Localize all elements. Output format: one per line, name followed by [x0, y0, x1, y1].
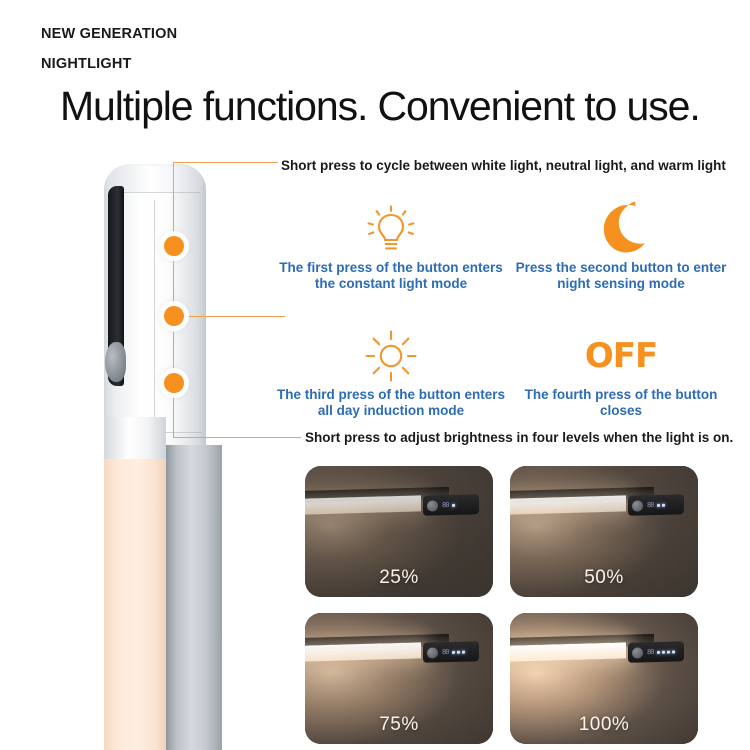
mode-block-off: OFF The fourth press of the button close… — [502, 325, 740, 419]
leader-line-top-vertical — [173, 162, 174, 240]
led-indicators-100 — [657, 650, 675, 654]
control-module-50: 80 — [628, 494, 684, 516]
sun-icon — [272, 325, 510, 387]
caption-cycle-light: Short press to cycle between white light… — [281, 158, 726, 173]
caption-brightness: Short press to adjust brightness in four… — [305, 430, 733, 445]
light-bar-25 — [305, 495, 421, 514]
control-module-75: 80 — [423, 641, 479, 663]
led-indicators-50 — [657, 503, 665, 506]
off-label: OFF — [585, 336, 657, 376]
control-module-25: 80 — [423, 494, 479, 516]
mode-block-all-day-induction: The third press of the button enters all… — [272, 325, 510, 419]
segment-display-75: 80 — [442, 648, 448, 656]
lamp-motion-sensor — [105, 342, 126, 382]
lamp-vertical-seam — [154, 200, 155, 438]
lightbulb-icon — [272, 198, 510, 260]
segment-display-50: 80 — [647, 501, 653, 509]
brightness-label-75: 75% — [305, 714, 493, 736]
mode-label-off: The fourth press of the button closes — [502, 387, 740, 419]
button-callout-middle[interactable] — [164, 306, 184, 326]
segment-display-25: 80 — [442, 501, 448, 509]
leader-line-bottom-horizontal — [173, 437, 301, 438]
light-bar-75 — [305, 642, 421, 661]
lamp-glow-panel — [104, 455, 166, 750]
light-bar-50 — [510, 495, 626, 514]
brightness-photo-50: 80 50% — [510, 466, 698, 597]
crescent-moon-icon — [502, 198, 740, 260]
sensor-knob-icon — [632, 647, 643, 658]
mode-label-all-day-induction: The third press of the button enters all… — [272, 387, 510, 419]
brightness-photo-100: 80 100% — [510, 613, 698, 744]
leader-line-middle-horizontal — [178, 316, 285, 317]
sensor-knob-icon — [427, 500, 438, 511]
brightness-label-25: 25% — [305, 567, 493, 589]
product-feature-page: NEW GENERATION NIGHTLIGHT Multiple funct… — [0, 0, 750, 750]
leader-line-top-horizontal — [173, 162, 278, 163]
led-indicators-25 — [452, 503, 455, 506]
light-bar-100 — [510, 642, 626, 661]
brand-eyebrow-line-2: NIGHTLIGHT — [41, 56, 132, 72]
brightness-label-50: 50% — [510, 567, 698, 589]
leader-line-bottom-vertical — [173, 393, 174, 438]
off-text-icon: OFF — [502, 325, 740, 387]
mode-block-night-sensing: Press the second button to enter night s… — [502, 198, 740, 292]
page-headline: Multiple functions. Convenient to use. — [60, 83, 700, 130]
brightness-level-grid: 80 25% 80 5 — [305, 466, 698, 744]
brightness-photo-25: 80 25% — [305, 466, 493, 597]
sensor-knob-icon — [427, 647, 438, 658]
sensor-knob-icon — [632, 500, 643, 511]
lamp-metal-rail — [166, 445, 222, 750]
led-indicators-75 — [452, 650, 465, 653]
brightness-label-100: 100% — [510, 714, 698, 736]
mode-label-night-sensing: Press the second button to enter night s… — [502, 260, 740, 292]
button-callout-bottom[interactable] — [164, 373, 184, 393]
lamp-collar — [104, 417, 166, 459]
mode-label-constant-light: The first press of the button enters the… — [272, 260, 510, 292]
segment-display-100: 80 — [647, 648, 653, 656]
mode-block-constant-light: The first press of the button enters the… — [272, 198, 510, 292]
brightness-photo-75: 80 75% — [305, 613, 493, 744]
lamp-lower-tube — [104, 455, 222, 750]
control-module-100: 80 — [628, 641, 684, 663]
brand-eyebrow-line-1: NEW GENERATION — [41, 26, 177, 42]
button-callout-top[interactable] — [164, 236, 184, 256]
